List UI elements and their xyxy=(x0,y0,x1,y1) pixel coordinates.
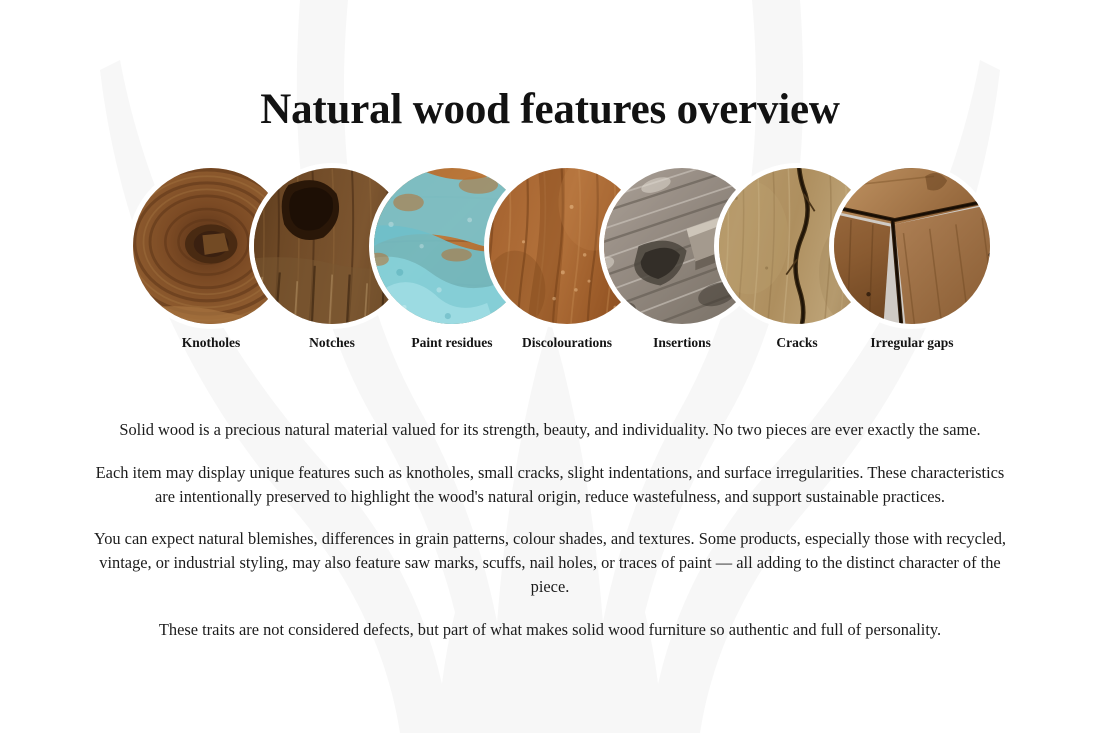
feature-circle-strip xyxy=(0,168,1100,330)
page-root: Natural wood features overview xyxy=(0,0,1100,733)
paragraph-intro: Solid wood is a precious natural materia… xyxy=(94,418,1006,442)
paragraph-unique-features: Each item may display unique features su… xyxy=(94,461,1006,509)
feature-image-irregular-gaps xyxy=(834,168,990,324)
paragraph-conclusion: These traits are not considered defects,… xyxy=(94,618,1006,642)
page-title: Natural wood features overview xyxy=(0,87,1100,132)
feature-label-irregular-gaps: Irregular gaps xyxy=(832,335,992,351)
feature-label-row: Knotholes Notches Paint residues Discolo… xyxy=(0,335,1100,355)
paragraph-blemishes: You can expect natural blemishes, differ… xyxy=(94,527,1006,598)
feature-item-irregular-gaps[interactable] xyxy=(834,168,990,324)
body-copy: Solid wood is a precious natural materia… xyxy=(94,418,1006,641)
